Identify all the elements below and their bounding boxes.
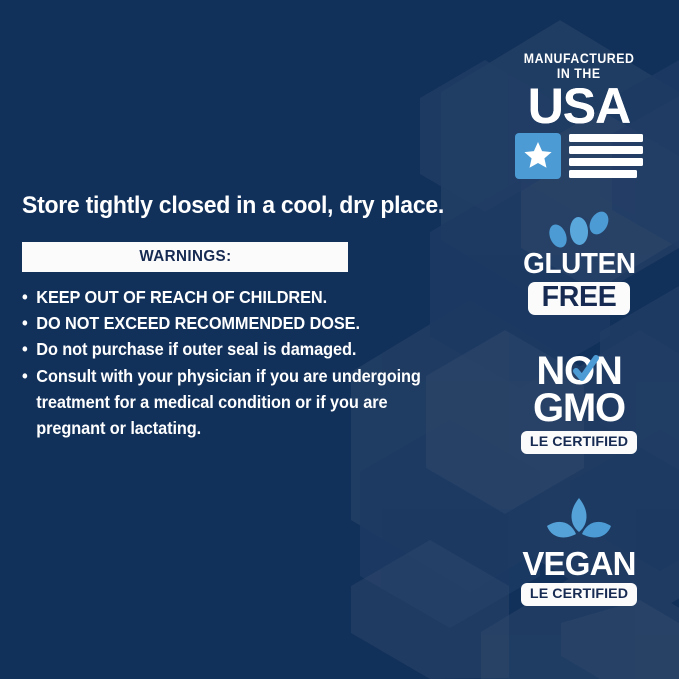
checkmark-icon <box>568 353 602 387</box>
warnings-list: •KEEP OUT OF REACH OF CHILDREN. •DO NOT … <box>22 284 452 441</box>
usa-flag-icon <box>515 133 643 181</box>
non-gmo-certification-text: LE CERTIFIED <box>530 434 628 450</box>
list-item: •Do not purchase if outer seal is damage… <box>22 336 431 362</box>
warnings-heading-box: WARNINGS: <box>22 242 348 272</box>
gluten-free-pill: FREE <box>528 282 631 316</box>
non-gmo-certification-pill: LE CERTIFIED <box>521 431 637 454</box>
list-item: •DO NOT EXCEED RECOMMENDED DOSE. <box>22 310 431 336</box>
wheat-grain-icon <box>546 210 612 248</box>
gluten-free-line1: GLUTEN <box>523 250 635 279</box>
vegan-certification-text: LE CERTIFIED <box>530 586 628 602</box>
bullet-icon: • <box>22 336 36 362</box>
vegan-certification-pill: LE CERTIFIED <box>521 583 637 606</box>
warning-item-text: DO NOT EXCEED RECOMMENDED DOSE. <box>36 313 360 333</box>
warnings-heading-label: WARNINGS: <box>139 248 231 266</box>
badge-manufactured-in-usa: MANUFACTURED IN THE USA <box>497 52 661 181</box>
certification-badge-column: MANUFACTURED IN THE USA GLUTEN FREE <box>497 0 661 679</box>
storage-instruction-text: Store tightly closed in a cool, dry plac… <box>22 192 426 220</box>
gluten-free-line2: FREE <box>542 281 617 313</box>
vegan-wordmark: VEGAN <box>522 547 635 580</box>
list-item: •Consult with your physician if you are … <box>22 363 431 441</box>
list-item: •KEEP OUT OF REACH OF CHILDREN. <box>22 284 431 310</box>
badge-gluten-free: GLUTEN FREE <box>497 210 661 315</box>
product-label-panel: Store tightly closed in a cool, dry plac… <box>0 0 679 679</box>
badge-non-gmo: NON GMO LE CERTIFIED <box>497 352 661 454</box>
bullet-icon: • <box>22 310 36 336</box>
three-leaf-plant-icon <box>541 496 617 544</box>
warning-item-text: Do not purchase if outer seal is damaged… <box>36 339 356 359</box>
bullet-icon: • <box>22 363 36 389</box>
usa-badge-wordmark: USA <box>528 83 631 129</box>
badge-vegan: VEGAN LE CERTIFIED <box>497 496 661 606</box>
label-text-column: Store tightly closed in a cool, dry plac… <box>22 192 452 441</box>
usa-badge-line1: MANUFACTURED <box>524 52 635 66</box>
warning-item-text: Consult with your physician if you are u… <box>36 366 421 438</box>
bullet-icon: • <box>22 284 36 310</box>
non-gmo-line2: GMO <box>533 389 625 428</box>
warning-item-text: KEEP OUT OF REACH OF CHILDREN. <box>36 287 327 307</box>
